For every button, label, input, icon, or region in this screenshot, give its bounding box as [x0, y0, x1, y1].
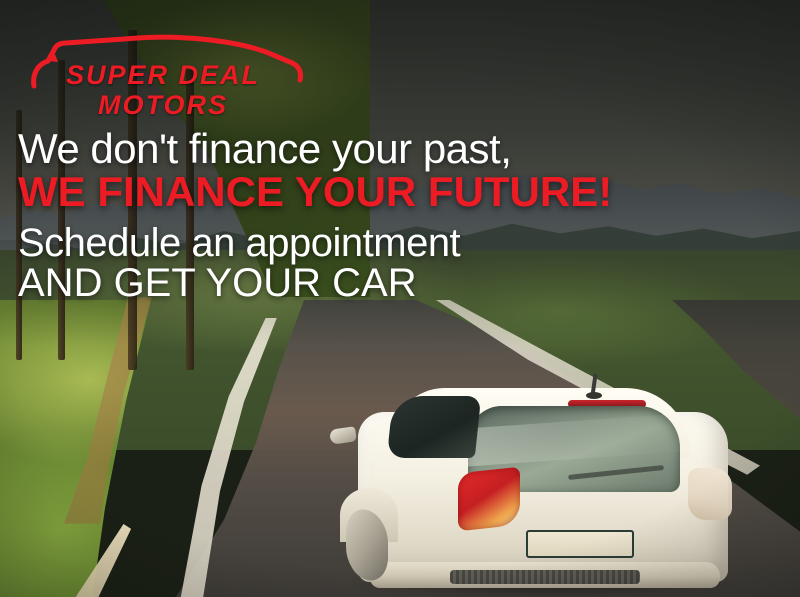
logo-line-1: SUPER DEAL [18, 62, 308, 89]
brand-logo[interactable]: SUPER DEAL MOTORS [18, 24, 308, 114]
side-window [387, 396, 482, 458]
side-mirror [329, 426, 357, 444]
bumper-grille [450, 570, 640, 584]
taillight-right [688, 468, 732, 520]
white-hatchback-car [330, 370, 750, 597]
headline-line-1: We don't finance your past, [18, 128, 698, 171]
license-plate [526, 530, 634, 558]
headline-line-3: Schedule an appointment [18, 223, 698, 264]
taillight-left [458, 467, 520, 532]
headline-line-4: AND GET YOUR CAR [18, 263, 698, 304]
headline-line-2: WE FINANCE YOUR FUTURE! [18, 171, 698, 214]
advertisement-banner: SUPER DEAL MOTORS We don't finance your … [0, 0, 800, 597]
logo-line-2: MOTORS [18, 92, 308, 119]
headline-block: We don't finance your past, WE FINANCE Y… [18, 128, 698, 304]
car-antenna-base [586, 392, 602, 399]
